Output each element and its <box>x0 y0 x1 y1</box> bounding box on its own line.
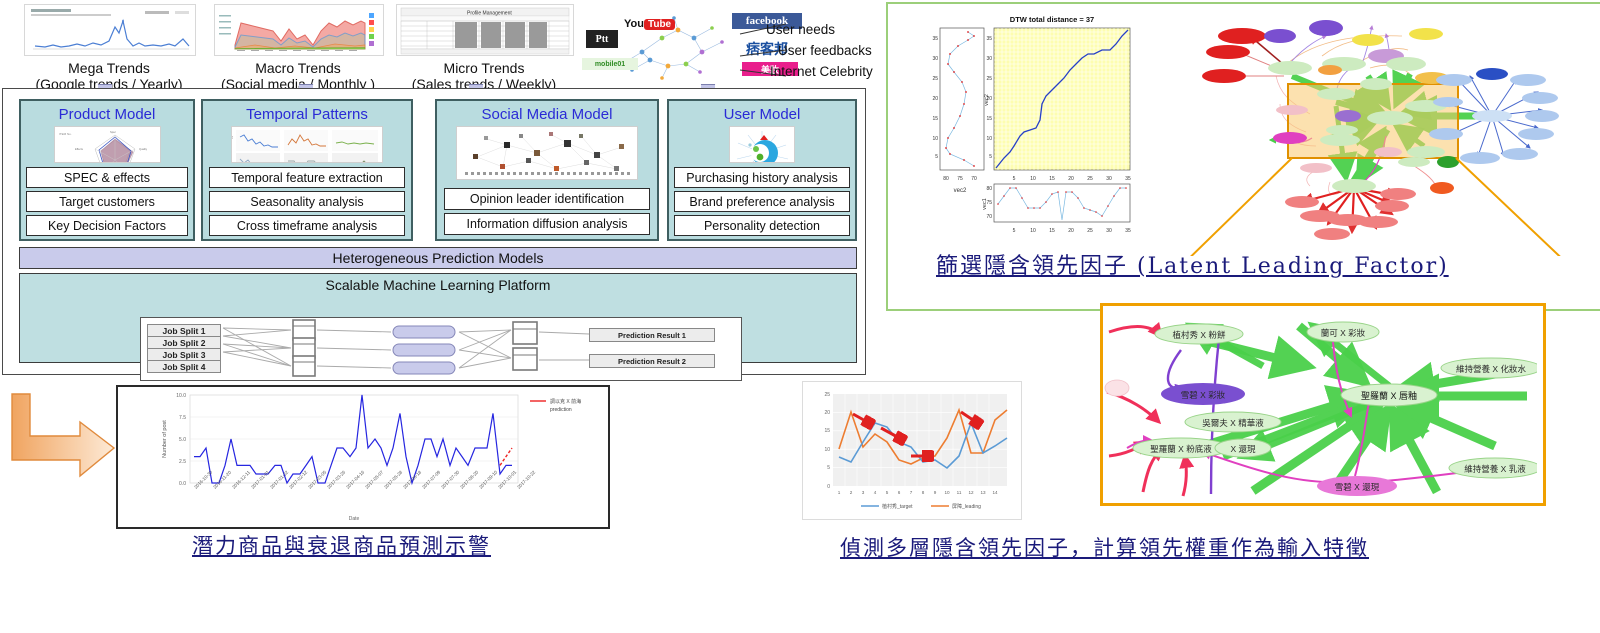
svg-text:10: 10 <box>986 136 992 142</box>
mid-chart-caption: 偵測多層隱含領先因子，計算領先權重作為輸入特徵 <box>840 532 1530 565</box>
svg-text:30: 30 <box>932 56 938 62</box>
item-temporal-feature-extraction[interactable]: Temporal feature extraction <box>209 167 405 188</box>
item-information-diffusion-analysis[interactable]: Information diffusion analysis <box>444 213 650 235</box>
svg-text:80: 80 <box>943 176 949 182</box>
item-purchasing-history-analysis[interactable]: Purchasing history analysis <box>674 167 850 188</box>
svg-text:15: 15 <box>1049 228 1055 234</box>
job-split-4: Job Split 4 <box>147 360 221 373</box>
svg-text:35: 35 <box>1125 176 1131 182</box>
potential-product-chart-panel: 10.07.5 5.02.50.0 Number of post 調以克 X 前… <box>116 385 610 529</box>
callout-internet-celebrity: Internet Celebrity <box>770 64 873 79</box>
svg-text:Date: Date <box>349 516 360 522</box>
latent-factor-network-zoom: 植村秀 X 粉餅 蘭可 X 彩妝 維持營養 X 化妝水 聖羅蘭 X 唇釉 雪碧 … <box>1100 303 1546 506</box>
micro-trends-image: Profile Management <box>396 4 574 56</box>
micro-trends-title: Micro Trends <box>396 60 572 76</box>
svg-text:35: 35 <box>986 36 992 42</box>
svg-text:12: 12 <box>968 490 974 495</box>
svg-text:維持營養 X 化妝水: 維持營養 X 化妝水 <box>1456 364 1526 374</box>
svg-text:70: 70 <box>986 214 992 220</box>
model-title-user: User Model <box>724 106 801 123</box>
svg-text:80: 80 <box>986 186 992 192</box>
item-brand-preference-analysis[interactable]: Brand preference analysis <box>674 191 850 212</box>
micro-trends-thumbnail-group: Profile Management Micro Trends (Sales t… <box>396 4 572 92</box>
svg-text:聖羅蘭 X 粉底液: 聖羅蘭 X 粉底液 <box>1150 444 1212 454</box>
leading-vs-target-chart: 252015 1050 123 456 789 101112 1314 植村秀_… <box>802 381 1022 520</box>
svg-text:ITEM No.: ITEM No. <box>59 132 72 136</box>
svg-text:15: 15 <box>932 116 938 122</box>
heterogeneous-prediction-models-band: Heterogeneous Prediction Models <box>19 247 857 269</box>
svg-text:維持營養 X 乳液: 維持營養 X 乳液 <box>1464 464 1526 474</box>
user-cluster-thumbnail <box>729 126 795 163</box>
latent-factor-network-graph <box>1140 6 1598 256</box>
callout-user-feedbacks: User feedbacks <box>778 43 872 58</box>
svg-text:20: 20 <box>1068 176 1074 182</box>
svg-text:10: 10 <box>1030 176 1036 182</box>
svg-text:10: 10 <box>824 447 830 453</box>
svg-text:9: 9 <box>934 490 937 495</box>
svg-text:10: 10 <box>932 136 938 142</box>
svg-text:7.5: 7.5 <box>179 415 186 421</box>
svg-text:30: 30 <box>986 56 992 62</box>
svg-text:5: 5 <box>935 154 938 160</box>
model-box-temporal: Temporal Patterns val <box>201 99 413 241</box>
svg-text:25: 25 <box>1087 176 1093 182</box>
svg-text:5: 5 <box>1013 228 1016 234</box>
svg-text:10.0: 10.0 <box>176 393 186 399</box>
svg-text:Spec: Spec <box>110 130 117 134</box>
svg-text:5: 5 <box>886 490 889 495</box>
svg-text:25: 25 <box>986 76 992 82</box>
macro-trends-image <box>214 4 384 56</box>
timeseries-grid-thumbnail: val <box>231 126 383 163</box>
svg-text:X 還現: X 還現 <box>1230 444 1256 454</box>
svg-text:20: 20 <box>824 410 830 416</box>
svg-text:14: 14 <box>992 490 998 495</box>
scalable-ml-platform-title: Scalable Machine Learning Platform <box>20 274 856 293</box>
macro-trends-title: Macro Trends <box>214 60 382 76</box>
svg-text:vec2: vec2 <box>954 188 967 194</box>
svg-text:吳爾夫 X 精華液: 吳爾夫 X 精華液 <box>1202 418 1264 428</box>
svg-text:Number of post: Number of post <box>162 420 168 458</box>
svg-text:6: 6 <box>898 490 901 495</box>
svg-text:5: 5 <box>989 154 992 160</box>
svg-text:7: 7 <box>910 490 913 495</box>
svg-text:10: 10 <box>944 490 950 495</box>
svg-text:70: 70 <box>971 176 977 182</box>
item-personality-detection[interactable]: Personality detection <box>674 215 850 236</box>
svg-text:15: 15 <box>824 428 830 434</box>
pipeline-diagram: Job Split 1 Job Split 2 Job Split 3 Job … <box>140 317 742 381</box>
macro-trends-thumbnail-group: Macro Trends (Social media / Monthly ) <box>214 4 382 92</box>
framework-panel: Product Model ITEM No. Spec Quality Pric… <box>2 88 866 375</box>
svg-text:1: 1 <box>838 490 841 495</box>
svg-text:雪碧 X 彩妝: 雪碧 X 彩妝 <box>1181 390 1226 400</box>
svg-text:prediction: prediction <box>550 407 572 413</box>
svg-text:8: 8 <box>922 490 925 495</box>
svg-text:Quality: Quality <box>139 147 148 151</box>
svg-text:植村秀_target: 植村秀_target <box>882 503 913 510</box>
prediction-result-1: Prediction Result 1 <box>589 328 715 342</box>
ptt-logo: Ptt <box>586 30 618 48</box>
svg-text:30: 30 <box>1106 228 1112 234</box>
svg-text:植村秀 X 粉餅: 植村秀 X 粉餅 <box>1173 330 1226 340</box>
scalable-ml-platform-panel: Scalable Machine Learning Platform <box>19 273 857 363</box>
svg-text:val: val <box>232 135 234 139</box>
item-target-customers[interactable]: Target customers <box>26 191 188 212</box>
svg-text:3: 3 <box>862 490 865 495</box>
svg-text:Effects: Effects <box>75 147 84 151</box>
svg-text:25: 25 <box>824 392 830 398</box>
svg-text:20: 20 <box>986 96 992 102</box>
svg-text:30: 30 <box>1106 176 1112 182</box>
mega-trends-thumbnail-group: Mega Trends (Google trends / Yearly) <box>24 4 194 92</box>
svg-text:5: 5 <box>827 465 830 471</box>
dtw-chart: DTW total distance = 37 353025 201510 5 … <box>902 8 1142 240</box>
mobile01-logo: mobile01 <box>582 58 638 70</box>
mega-trends-title: Mega Trends <box>24 60 194 76</box>
item-seasonality-analysis[interactable]: Seasonality analysis <box>209 191 405 212</box>
svg-text:屏障_leading: 屏障_leading <box>952 503 981 510</box>
model-title-temporal: Temporal Patterns <box>246 106 368 123</box>
svg-text:蘭可 X 彩妝: 蘭可 X 彩妝 <box>1321 328 1366 338</box>
left-chart-caption: 潛力商品與衰退商品預測示警 <box>192 530 612 560</box>
model-title-social: Social Media Model <box>482 106 613 123</box>
svg-text:35: 35 <box>1125 228 1131 234</box>
svg-text:10: 10 <box>1030 228 1036 234</box>
svg-text:15: 15 <box>1049 176 1055 182</box>
model-box-social: Social Media Model <box>435 99 659 241</box>
svg-text:DTW total distance = 37: DTW total distance = 37 <box>1010 15 1094 24</box>
svg-text:2: 2 <box>850 490 853 495</box>
svg-text:0: 0 <box>827 484 830 490</box>
svg-text:15: 15 <box>986 116 992 122</box>
item-spec-effects[interactable]: SPEC & effects <box>26 167 188 188</box>
item-opinion-leader-identification[interactable]: Opinion leader identification <box>444 188 650 210</box>
radar-chart-thumbnail: ITEM No. Spec Quality Price Brand Effect… <box>54 126 161 163</box>
svg-text:5: 5 <box>1013 176 1016 182</box>
svg-text:vec1: vec1 <box>982 198 988 210</box>
svg-text:調以克 X 前海: 調以克 X 前海 <box>550 398 581 405</box>
youtube-logo: YouTube <box>624 14 675 32</box>
svg-text:11: 11 <box>957 490 962 495</box>
svg-text:20: 20 <box>932 96 938 102</box>
svg-text:13: 13 <box>980 490 986 495</box>
mega-trends-image <box>24 4 196 56</box>
svg-text:聖羅蘭 X 唇釉: 聖羅蘭 X 唇釉 <box>1361 390 1417 401</box>
callout-user-needs: User needs <box>766 22 835 37</box>
svg-text:2.5: 2.5 <box>179 459 186 465</box>
svg-text:25: 25 <box>1087 228 1093 234</box>
social-graph-thumbnail <box>456 126 638 180</box>
svg-text:35: 35 <box>932 36 938 42</box>
model-title-product: Product Model <box>59 106 156 123</box>
svg-text:75: 75 <box>957 176 963 182</box>
svg-text:20: 20 <box>1068 228 1074 234</box>
model-box-user: User Model Purchasing history <box>667 99 857 241</box>
svg-text:5.0: 5.0 <box>179 437 186 443</box>
item-key-decision-factors[interactable]: Key Decision Factors <box>26 215 188 236</box>
network-caption: 篩選隱含領先因子 (Latent Leading Factor) <box>936 250 1496 283</box>
svg-text:Profile Management: Profile Management <box>467 11 512 17</box>
svg-text:0.0: 0.0 <box>179 481 186 487</box>
model-box-product: Product Model ITEM No. Spec Quality Pric… <box>19 99 195 241</box>
item-cross-timeframe-analysis[interactable]: Cross timeframe analysis <box>209 215 405 236</box>
prediction-result-2: Prediction Result 2 <box>589 354 715 368</box>
svg-text:25: 25 <box>932 76 938 82</box>
svg-text:4: 4 <box>874 490 877 495</box>
svg-text:雪碧 X 還現: 雪碧 X 還現 <box>1335 482 1380 492</box>
orange-elbow-arrow <box>6 392 122 488</box>
